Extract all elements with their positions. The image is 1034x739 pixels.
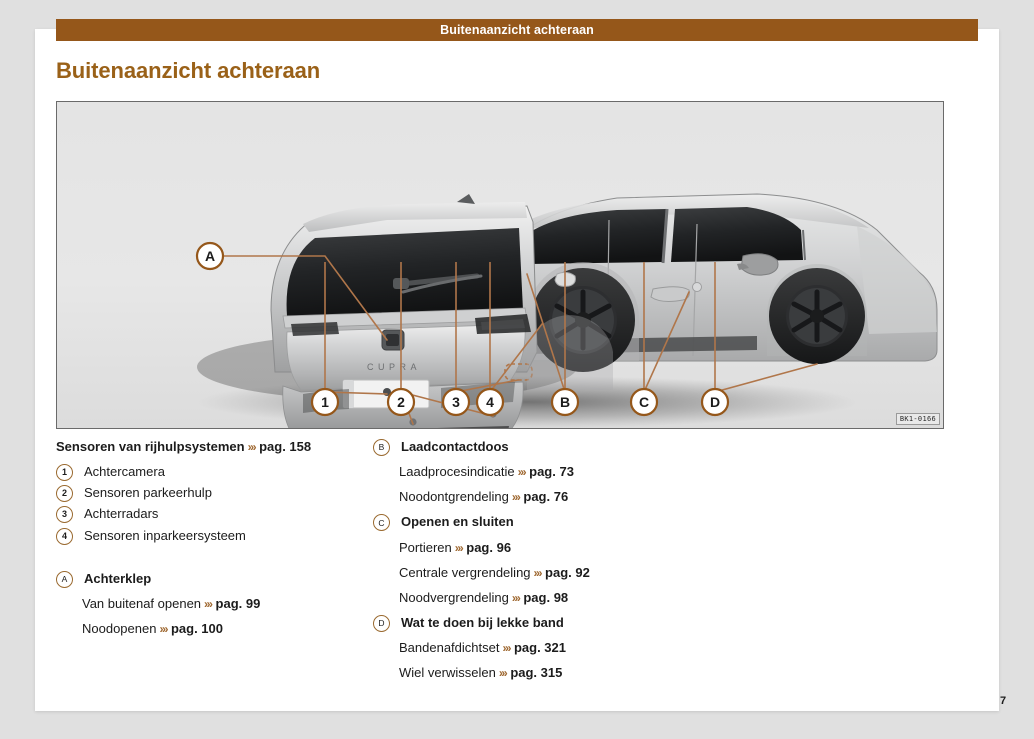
legend-group-A-item-1-text: Van buitenaf openen	[82, 596, 201, 611]
callout-B: B	[552, 389, 578, 415]
page-title: Buitenaanzicht achteraan	[56, 58, 320, 84]
marker-3: 3	[56, 506, 73, 523]
legend-item-1[interactable]: 1 Achtercamera	[56, 462, 386, 482]
page-ref[interactable]: pag. 321	[514, 640, 566, 655]
legend-group-C-item-2[interactable]: Centrale vergrendeling›››pag. 92	[399, 563, 703, 583]
svg-text:4: 4	[486, 394, 494, 410]
svg-text:B: B	[560, 394, 570, 410]
svg-text:2: 2	[397, 394, 405, 410]
legend-column-left: Sensoren van rijhulpsystemen›››pag. 158 …	[56, 437, 386, 644]
legend-group-B-item-1[interactable]: Laadprocesindicatie›››pag. 73	[399, 462, 703, 482]
legend-group-D-item-2-text: Wiel verwisselen	[399, 665, 496, 680]
marker-A: A	[56, 571, 73, 588]
chevron-icon: ›››	[518, 465, 526, 479]
legend-item-4[interactable]: 4 Sensoren inparkeersysteem	[56, 526, 386, 546]
legend-group-A[interactable]: A Achterklep	[56, 569, 386, 589]
page-ref[interactable]: pag. 315	[510, 665, 562, 680]
callout-2: 2	[388, 389, 414, 415]
svg-text:D: D	[710, 394, 720, 410]
legend-group-B-heading: Laadcontactdoos	[401, 437, 509, 457]
legend-item-3-label: Achterradars	[84, 504, 158, 524]
legend-group-B-item-1-text: Laadprocesindicatie	[399, 464, 515, 479]
figure-legend: Sensoren van rijhulpsystemen›››pag. 158 …	[56, 437, 942, 687]
callout-1: 1	[312, 389, 338, 415]
marker-B: B	[373, 439, 390, 456]
marker-1: 1	[56, 464, 73, 481]
legend-group-C-heading: Openen en sluiten	[401, 512, 514, 532]
figure-id-label: BK1-0166	[896, 413, 940, 425]
page-ref[interactable]: pag. 73	[529, 464, 574, 479]
chevron-icon: ›››	[204, 597, 212, 611]
marker-4: 4	[56, 528, 73, 545]
page-ref[interactable]: pag. 98	[523, 590, 568, 605]
legend-group-C[interactable]: C Openen en sluiten	[373, 512, 703, 532]
legend-item-2-label: Sensoren parkeerhulp	[84, 483, 212, 503]
legend-group-C-item-3-text: Noodvergrendeling	[399, 590, 509, 605]
svg-text:1: 1	[321, 394, 329, 410]
svg-text:A: A	[205, 248, 215, 264]
legend-group-A-heading: Achterklep	[84, 569, 151, 589]
chevron-icon: ›››	[499, 666, 507, 680]
screenshot-root: Buitenaanzicht achteraan Buitenaanzicht …	[0, 0, 1034, 739]
chevron-icon: ›››	[248, 440, 256, 454]
callout-3: 3	[443, 389, 469, 415]
running-header-bar: Buitenaanzicht achteraan	[56, 19, 978, 41]
callout-C: C	[631, 389, 657, 415]
legend-group-D-item-1-text: Bandenafdichtset	[399, 640, 499, 655]
legend-group-C-item-1-text: Portieren	[399, 540, 452, 555]
legend-item-4-label: Sensoren inparkeersysteem	[84, 526, 246, 546]
legend-heading-sensors-text: Sensoren van rijhulpsystemen	[56, 439, 245, 454]
callout-A: A	[197, 243, 223, 269]
legend-group-C-item-3[interactable]: Noodvergrendeling›››pag. 98	[399, 588, 703, 608]
svg-text:C: C	[639, 394, 649, 410]
legend-item-3[interactable]: 3 Achterradars	[56, 504, 386, 524]
legend-heading-sensors: Sensoren van rijhulpsystemen›››pag. 158	[56, 437, 386, 457]
legend-group-A-item-2-text: Noodopenen	[82, 621, 156, 636]
running-header-title: Buitenaanzicht achteraan	[440, 23, 594, 37]
chevron-icon: ›››	[512, 490, 520, 504]
callout-D: D	[702, 389, 728, 415]
marker-D: D	[373, 615, 390, 632]
page-ref[interactable]: pag. 100	[171, 621, 223, 636]
vehicle-figure: CUPRA	[56, 101, 944, 429]
figure-callouts: A 1 2 3 4	[57, 102, 943, 428]
marker-2: 2	[56, 485, 73, 502]
legend-group-C-item-2-text: Centrale vergrendeling	[399, 565, 531, 580]
chevron-icon: ›››	[455, 541, 463, 555]
page-number: 7	[1000, 695, 1006, 707]
legend-group-D[interactable]: D Wat te doen bij lekke band	[373, 613, 703, 633]
legend-group-B-item-2[interactable]: Noodontgrendeling›››pag. 76	[399, 487, 703, 507]
legend-group-D-item-1[interactable]: Bandenafdichtset›››pag. 321	[399, 638, 703, 658]
marker-C: C	[373, 514, 390, 531]
legend-item-2[interactable]: 2 Sensoren parkeerhulp	[56, 483, 386, 503]
page-ref[interactable]: pag. 158	[259, 439, 311, 454]
page-ref[interactable]: pag. 99	[216, 596, 261, 611]
callout-4: 4	[477, 389, 503, 415]
legend-column-right: B Laadcontactdoos Laadprocesindicatie›››…	[373, 437, 703, 688]
chevron-icon: ›››	[534, 566, 542, 580]
chevron-icon: ›››	[502, 641, 510, 655]
legend-group-A-item-1[interactable]: Van buitenaf openen›››pag. 99	[82, 594, 386, 614]
legend-group-D-item-2[interactable]: Wiel verwisselen›››pag. 315	[399, 663, 703, 683]
legend-group-A-item-2[interactable]: Noodopenen›››pag. 100	[82, 619, 386, 639]
svg-text:3: 3	[452, 394, 460, 410]
legend-group-B[interactable]: B Laadcontactdoos	[373, 437, 703, 457]
legend-group-C-item-1[interactable]: Portieren›››pag. 96	[399, 538, 703, 558]
chevron-icon: ›››	[512, 591, 520, 605]
legend-group-B-item-2-text: Noodontgrendeling	[399, 489, 509, 504]
page-ref[interactable]: pag. 92	[545, 565, 590, 580]
page-ref[interactable]: pag. 76	[523, 489, 568, 504]
chevron-icon: ›››	[159, 622, 167, 636]
page-ref[interactable]: pag. 96	[466, 540, 511, 555]
legend-group-D-heading: Wat te doen bij lekke band	[401, 613, 564, 633]
legend-item-1-label: Achtercamera	[84, 462, 165, 482]
legend-spacer	[56, 547, 386, 569]
